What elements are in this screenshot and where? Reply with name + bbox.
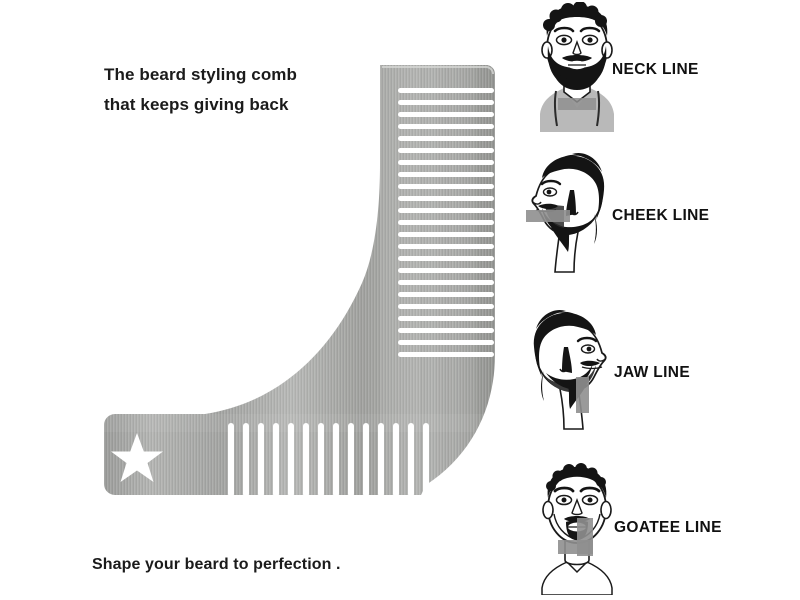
face-profile-right-jaw-icon [516, 305, 626, 435]
comb-illustration [80, 55, 510, 515]
feature-label-neck-line: NECK LINE [612, 61, 699, 79]
face-profile-left-cheek-icon [512, 148, 622, 278]
tagline: Shape your beard to perfection . [92, 556, 341, 574]
fine-tooth-comb-section [398, 88, 494, 357]
product-infographic: The beard styling comb that keeps giving… [0, 0, 800, 600]
feature-label-goatee-line: GOATEE LINE [614, 519, 722, 537]
fine-tooth-slots [398, 88, 494, 357]
feature-label-cheek-line: CHEEK LINE [612, 207, 709, 225]
feature-label-jaw-line: JAW LINE [614, 364, 690, 382]
